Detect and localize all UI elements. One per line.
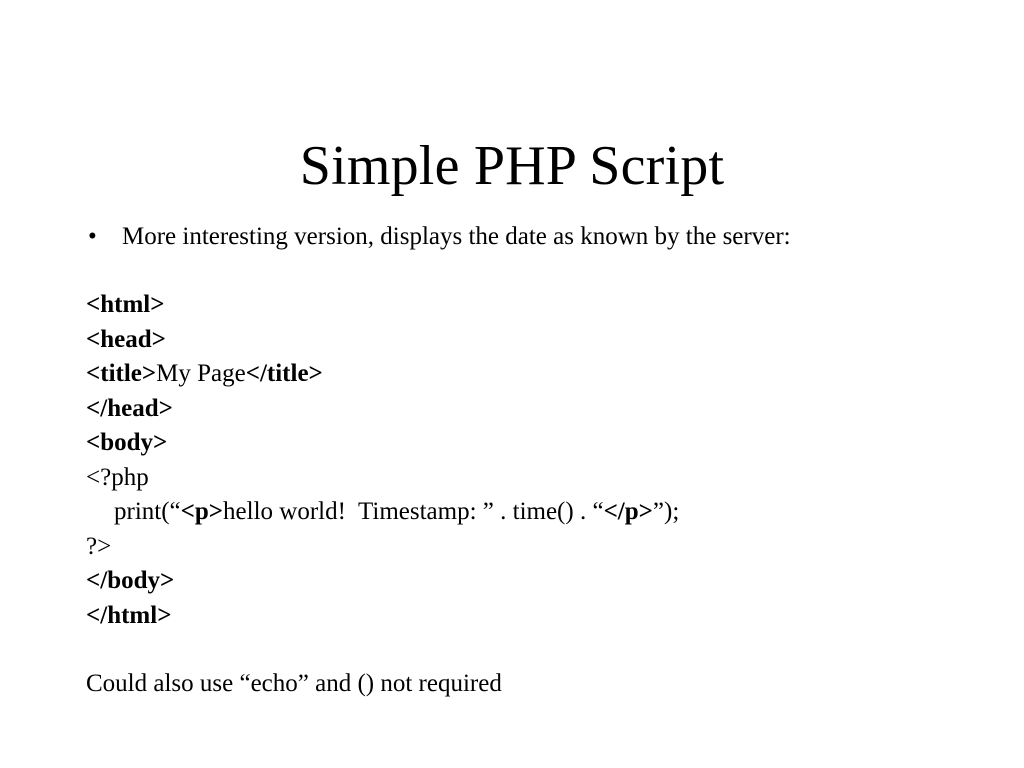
code-tag: <head>	[86, 326, 166, 353]
code-tag: </title>	[246, 360, 323, 387]
code-listing: <html> <head> <title>My Page</title> </h…	[86, 288, 986, 633]
code-line: <body>	[86, 426, 986, 461]
code-tag: <body>	[86, 429, 167, 456]
bullet-marker-icon: •	[88, 220, 97, 254]
bullet-item: • More interesting version, displays the…	[86, 220, 986, 254]
page-title: Simple PHP Script	[0, 134, 1024, 198]
code-tag: </html>	[86, 602, 171, 629]
code-tag: <p>	[181, 498, 223, 525]
code-text: My Page	[156, 360, 246, 387]
slide: Simple PHP Script • More interesting ver…	[0, 0, 1024, 768]
code-line: </head>	[86, 392, 986, 427]
code-line: print(“<p>hello world! Timestamp: ” . ti…	[86, 495, 986, 530]
code-text: print(“	[114, 498, 181, 525]
code-line: ?>	[86, 530, 986, 565]
code-tag: </body>	[86, 567, 174, 594]
code-text: ?>	[86, 533, 111, 560]
code-line: <?php	[86, 461, 986, 496]
code-line: <html>	[86, 288, 986, 323]
code-line: <head>	[86, 323, 986, 358]
trailer-note: Could also use “echo” and () not require…	[86, 667, 986, 701]
code-text: hello world! Timestamp: ” . time() . “	[223, 498, 604, 525]
code-line: </body>	[86, 564, 986, 599]
code-tag: <title>	[86, 360, 156, 387]
code-text: ”);	[653, 498, 679, 525]
spacer-after-bullet	[86, 254, 986, 288]
bullet-text: More interesting version, displays the d…	[122, 223, 791, 250]
code-tag: </p>	[604, 498, 653, 525]
code-line: <title>My Page</title>	[86, 357, 986, 392]
spacer-after-code	[86, 633, 986, 667]
slide-body: • More interesting version, displays the…	[86, 220, 986, 701]
code-tag: </head>	[86, 395, 173, 422]
code-tag: <html>	[86, 291, 165, 318]
code-line: </html>	[86, 599, 986, 634]
code-text: <?php	[86, 464, 149, 491]
